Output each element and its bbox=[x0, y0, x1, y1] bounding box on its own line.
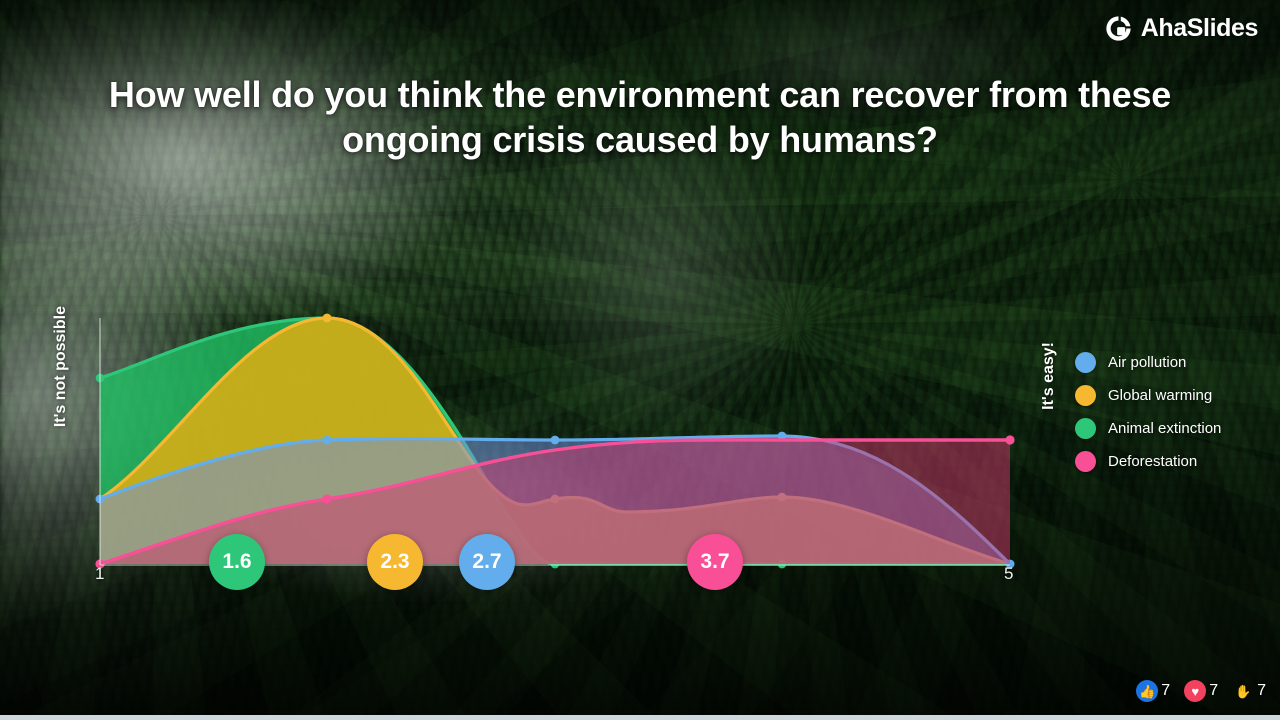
x-tick-max: 5 bbox=[1004, 564, 1013, 584]
legend-item-animal-extinction[interactable]: Animal extinction bbox=[1075, 418, 1221, 439]
raised-hand-icon[interactable]: ✋ bbox=[1232, 680, 1254, 702]
reaction-count: 7 bbox=[1161, 682, 1170, 700]
legend-item-air-pollution[interactable]: Air pollution bbox=[1075, 352, 1221, 373]
legend-item-label: Animal extinction bbox=[1108, 420, 1221, 437]
axis-label-max: It's easy! bbox=[1040, 342, 1058, 410]
legend-color-dot-icon bbox=[1075, 418, 1096, 439]
slide-progress-fill bbox=[0, 715, 1280, 720]
axis-label-min: It's not possible bbox=[52, 306, 70, 427]
reaction-raised-hand[interactable]: ✋7 bbox=[1232, 680, 1266, 702]
legend-item-label: Air pollution bbox=[1108, 354, 1186, 371]
legend-color-dot-icon bbox=[1075, 451, 1096, 472]
average-bubble-3.7: 3.7 bbox=[687, 534, 743, 590]
reaction-count: 7 bbox=[1257, 682, 1266, 700]
average-bubble-2.3: 2.3 bbox=[367, 534, 423, 590]
legend-color-dot-icon bbox=[1075, 352, 1096, 373]
legend-item-global-warming[interactable]: Global warming bbox=[1075, 385, 1221, 406]
reaction-bar[interactable]: 👍7♥7✋7 bbox=[1136, 680, 1266, 702]
legend-item-label: Global warming bbox=[1108, 387, 1212, 404]
legend-color-dot-icon bbox=[1075, 385, 1096, 406]
thumbs-up-icon[interactable]: 👍 bbox=[1136, 680, 1158, 702]
x-tick-min: 1 bbox=[95, 564, 104, 584]
reaction-count: 7 bbox=[1209, 682, 1218, 700]
slide-progress-bar[interactable] bbox=[0, 715, 1280, 720]
ahaslides-logo: AhaSlides bbox=[1105, 14, 1258, 43]
heart-icon[interactable]: ♥ bbox=[1184, 680, 1206, 702]
ahaslides-wordmark: AhaSlides bbox=[1141, 14, 1258, 43]
reaction-heart[interactable]: ♥7 bbox=[1184, 680, 1218, 702]
question-title: How well do you think the environment ca… bbox=[60, 72, 1220, 163]
legend-item-label: Deforestation bbox=[1108, 453, 1197, 470]
legend-item-deforestation[interactable]: Deforestation bbox=[1075, 451, 1221, 472]
ahaslides-logo-icon bbox=[1105, 15, 1132, 42]
slide-canvas: AhaSlides How well do you think the envi… bbox=[0, 0, 1280, 720]
average-bubble-2.7: 2.7 bbox=[459, 534, 515, 590]
average-bubble-1.6: 1.6 bbox=[209, 534, 265, 590]
chart-legend: Air pollutionGlobal warmingAnimal extinc… bbox=[1075, 352, 1221, 472]
reaction-thumbs-up[interactable]: 👍7 bbox=[1136, 680, 1170, 702]
